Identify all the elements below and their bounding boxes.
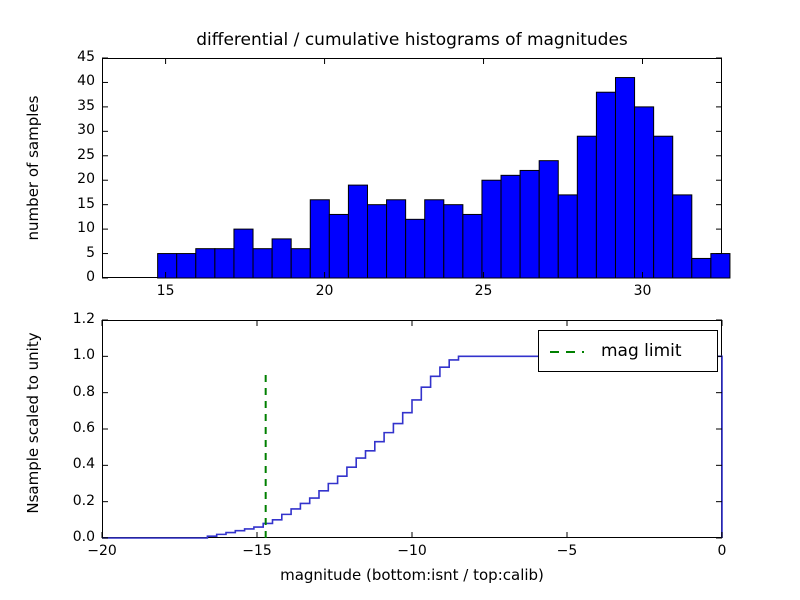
top-ytick-label: 10: [40, 220, 95, 236]
top-xtick-label: 15: [136, 283, 196, 299]
legend[interactable]: mag limit: [538, 330, 718, 372]
bottom-ytick-label: 0.6: [40, 420, 95, 436]
bottom-ytick-label: 0.8: [40, 384, 95, 400]
cumulative-histogram-plot: [0, 0, 800, 600]
bottom-ytick-label: 0.4: [40, 456, 95, 472]
top-ytick-label: 40: [40, 73, 95, 89]
top-ytick-label: 30: [40, 122, 95, 138]
bottom-ytick-label: 1.0: [40, 347, 95, 363]
bottom-xtick-label: −15: [227, 543, 287, 559]
top-ytick-label: 5: [40, 245, 95, 261]
bottom-ytick-label: 0.2: [40, 493, 95, 509]
bottom-xtick-label: 0: [692, 543, 752, 559]
top-xtick-label: 25: [454, 283, 514, 299]
top-ytick-label: 20: [40, 171, 95, 187]
bottom-xtick-label: −20: [72, 543, 132, 559]
bottom-panel-xlabel: magnitude (bottom:isnt / top:calib): [102, 566, 722, 584]
top-xtick-label: 30: [613, 283, 673, 299]
top-ytick-label: 35: [40, 98, 95, 114]
bottom-xtick-label: −10: [382, 543, 442, 559]
legend-label-mag-limit: mag limit: [601, 341, 686, 361]
top-ytick-label: 0: [40, 269, 95, 285]
top-ytick-label: 15: [40, 196, 95, 212]
top-xtick-label: 20: [295, 283, 355, 299]
mag-limit-dash-icon: [549, 344, 585, 358]
bottom-ytick-label: 1.2: [40, 311, 95, 327]
bottom-xtick-label: −5: [537, 543, 597, 559]
cumulative-curve: [102, 356, 722, 538]
top-ytick-label: 45: [40, 49, 95, 65]
top-ytick-label: 25: [40, 147, 95, 163]
figure: differential / cumulative histograms of …: [0, 0, 800, 600]
